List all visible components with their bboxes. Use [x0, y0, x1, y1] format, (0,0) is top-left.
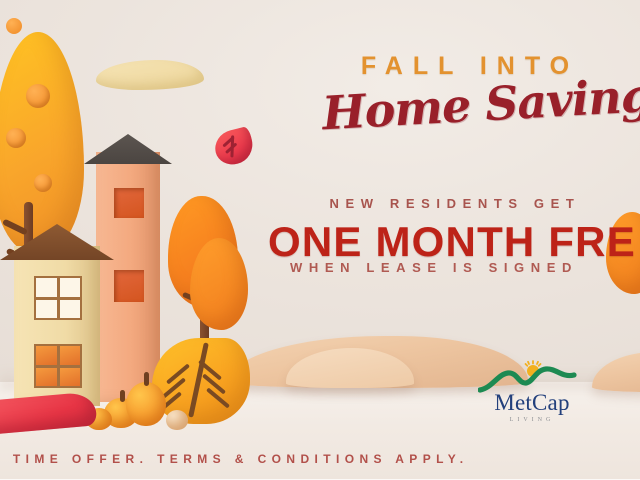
metcap-living-logo[interactable]: MetCap LIVING: [478, 360, 586, 426]
green-hills-icon: [480, 369, 574, 390]
logo-wordmark: MetCap: [478, 391, 586, 414]
offer-headline: ONE MONTH FRE: [268, 218, 636, 266]
terms-disclaimer: TED TIME OFFER. TERMS & CONDITIONS APPLY…: [0, 452, 469, 466]
hills-sun-icon: [478, 360, 586, 394]
offer-post-text: WHEN LEASE IS SIGNED: [290, 260, 640, 275]
logo-tagline: LIVING: [478, 417, 586, 423]
fall-promo-banner: FALL INTO Home Savings! NEW RESIDENTS GE…: [0, 0, 640, 480]
offer-pre-text: NEW RESIDENTS GET: [290, 196, 620, 211]
